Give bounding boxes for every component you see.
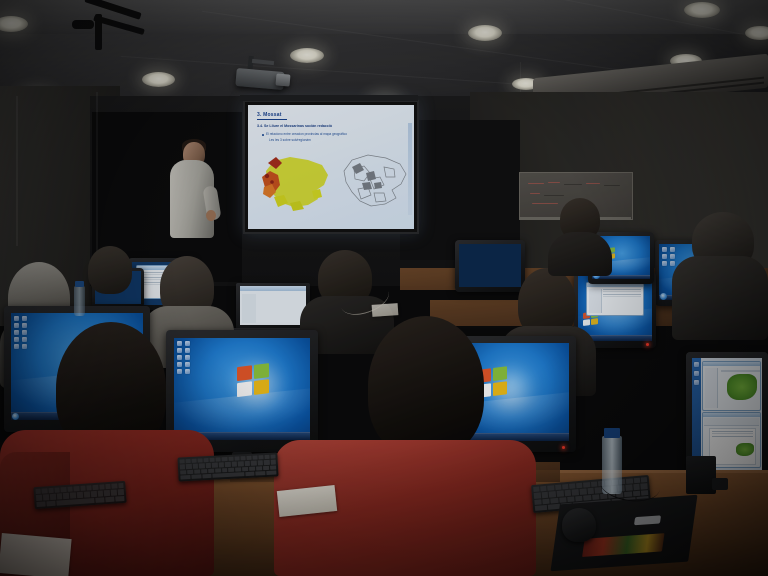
desktop-icon[interactable] bbox=[185, 355, 190, 360]
desktop-icon[interactable] bbox=[177, 362, 182, 367]
monitor-center-back[interactable] bbox=[455, 240, 525, 292]
document-page[interactable] bbox=[709, 428, 756, 465]
window-sidebar[interactable] bbox=[242, 294, 256, 323]
whiteboard-mark bbox=[586, 183, 600, 184]
desktop-icon[interactable] bbox=[694, 380, 699, 385]
desktop-icon[interactable] bbox=[177, 348, 182, 353]
attendee-torso bbox=[672, 256, 768, 340]
power-led bbox=[562, 446, 565, 449]
desktop-icon[interactable] bbox=[185, 362, 190, 367]
ceiling-downlight bbox=[290, 48, 324, 63]
desktop-icon[interactable] bbox=[670, 254, 675, 259]
desktop-icon-group[interactable] bbox=[177, 341, 190, 374]
window-text-line bbox=[603, 291, 641, 292]
ceiling-downlight bbox=[468, 25, 502, 41]
ceiling-downlight bbox=[684, 2, 720, 18]
window-titlebar[interactable] bbox=[703, 362, 760, 366]
gis-europe-map bbox=[727, 374, 757, 400]
window-titlebar[interactable] bbox=[240, 286, 306, 291]
document-text-line bbox=[712, 431, 753, 432]
slide-bullet-2: Les les 3 sobre sub/regionàm bbox=[269, 138, 311, 142]
europe-choropleth-map bbox=[260, 151, 332, 213]
power-led bbox=[646, 343, 649, 346]
monitor-screen[interactable] bbox=[692, 358, 762, 470]
wall-seam bbox=[16, 96, 18, 246]
wall-seam bbox=[96, 92, 98, 252]
desktop-icon-group[interactable] bbox=[662, 247, 675, 266]
desktop-icon[interactable] bbox=[22, 344, 27, 349]
desktop-icon[interactable] bbox=[185, 348, 190, 353]
whiteboard-mark bbox=[528, 183, 544, 184]
application-window[interactable] bbox=[586, 282, 644, 316]
attendee-hair bbox=[88, 246, 132, 294]
mousepad-logo bbox=[634, 515, 661, 525]
camera-mount-post bbox=[95, 14, 102, 50]
whiteboard-mark bbox=[532, 203, 558, 204]
desktop-icon-group[interactable] bbox=[14, 316, 27, 349]
monitor-screen[interactable] bbox=[174, 338, 310, 440]
slide-side-strip bbox=[408, 123, 412, 215]
desktop-icon[interactable] bbox=[177, 355, 182, 360]
screen-top-casing bbox=[240, 95, 418, 101]
gis-application-window[interactable] bbox=[702, 361, 761, 411]
document-text-line bbox=[712, 436, 753, 437]
desktop-icon[interactable] bbox=[694, 371, 699, 376]
water-bottle-2[interactable] bbox=[74, 286, 85, 316]
monitor-screen[interactable] bbox=[578, 276, 652, 341]
projector-lens bbox=[276, 73, 291, 86]
window-sidebar[interactable] bbox=[589, 289, 602, 313]
document-text-line bbox=[712, 433, 753, 434]
keyboard-keys bbox=[35, 483, 124, 507]
document-ribbon[interactable] bbox=[704, 418, 759, 426]
desktop-icon[interactable] bbox=[14, 344, 19, 349]
desktop-icon[interactable] bbox=[14, 323, 19, 328]
desktop-icon[interactable] bbox=[14, 316, 19, 321]
window-text-line bbox=[603, 296, 641, 297]
start-button[interactable] bbox=[660, 293, 667, 300]
attendee-hair bbox=[368, 316, 484, 456]
desktop-icon[interactable] bbox=[177, 369, 182, 374]
desktop-icon[interactable] bbox=[22, 330, 27, 335]
desktop-icon[interactable] bbox=[662, 261, 667, 266]
slide-bullet-1: El relaciono entre creacion provincias a… bbox=[266, 132, 347, 136]
desktop-icon[interactable] bbox=[14, 330, 19, 335]
desktop-icon[interactable] bbox=[185, 341, 190, 346]
desktop-icon[interactable] bbox=[670, 247, 675, 252]
slide-subtitle: 3.4. Se Lliure el Mossarinas sociàn reda… bbox=[257, 124, 332, 128]
ceiling-downlight bbox=[745, 26, 768, 40]
desktop-icon[interactable] bbox=[662, 247, 667, 252]
bottle-cap[interactable] bbox=[604, 428, 620, 438]
keyboard-keys bbox=[180, 455, 277, 480]
presenter-hand bbox=[206, 210, 216, 221]
window-titlebar[interactable] bbox=[703, 413, 760, 417]
presentation-slide: 3. Mossat 3.4. Se Lliure el Mossarinas s… bbox=[248, 105, 414, 229]
window-text-line bbox=[603, 294, 641, 295]
mousepad-graphic bbox=[582, 533, 664, 557]
laptop-mid-center[interactable] bbox=[236, 283, 310, 329]
camera-head-icon bbox=[72, 20, 94, 29]
desktop-icon[interactable] bbox=[22, 316, 27, 321]
bottle-cap[interactable] bbox=[75, 281, 84, 287]
printed-handout-2[interactable] bbox=[0, 533, 72, 576]
whiteboard-mark bbox=[604, 185, 620, 186]
whiteboard-mark bbox=[548, 182, 560, 183]
desktop-icon[interactable] bbox=[670, 261, 675, 266]
ceiling-downlight bbox=[142, 72, 175, 87]
attendee-torso bbox=[548, 232, 612, 276]
slide-bullet-dot bbox=[262, 134, 264, 136]
whiteboard-mark bbox=[564, 184, 582, 185]
whiteboard-mark bbox=[544, 195, 564, 196]
desktop-icon[interactable] bbox=[22, 337, 27, 342]
desktop-icon[interactable] bbox=[185, 369, 190, 374]
laptop-screen[interactable] bbox=[240, 286, 306, 325]
window-text-line bbox=[603, 289, 641, 290]
desktop-icon[interactable] bbox=[694, 362, 699, 367]
gis-toolbar[interactable] bbox=[721, 370, 761, 372]
whiteboard-mark bbox=[530, 193, 540, 194]
desktop-icon[interactable] bbox=[14, 337, 19, 342]
slide-title-underline bbox=[257, 119, 287, 120]
slide-title: 3. Mossat bbox=[257, 112, 282, 118]
start-button[interactable] bbox=[12, 413, 19, 420]
windows-logo-icon bbox=[237, 362, 271, 398]
monitor-screen[interactable] bbox=[459, 244, 521, 287]
projection-screen: 3. Mossat 3.4. Se Lliure el Mossarinas s… bbox=[243, 100, 419, 234]
europe-outline-map bbox=[340, 149, 410, 211]
photo-scene: 3. Mossat 3.4. Se Lliure el Mossarinas s… bbox=[0, 0, 768, 576]
gis-layer-panel[interactable] bbox=[705, 368, 718, 408]
document-embedded-map bbox=[736, 443, 754, 456]
desktop-icon[interactable] bbox=[662, 254, 667, 259]
desktop-icon[interactable] bbox=[177, 341, 182, 346]
computer-mouse[interactable] bbox=[562, 508, 596, 542]
desktop-icon[interactable] bbox=[22, 323, 27, 328]
